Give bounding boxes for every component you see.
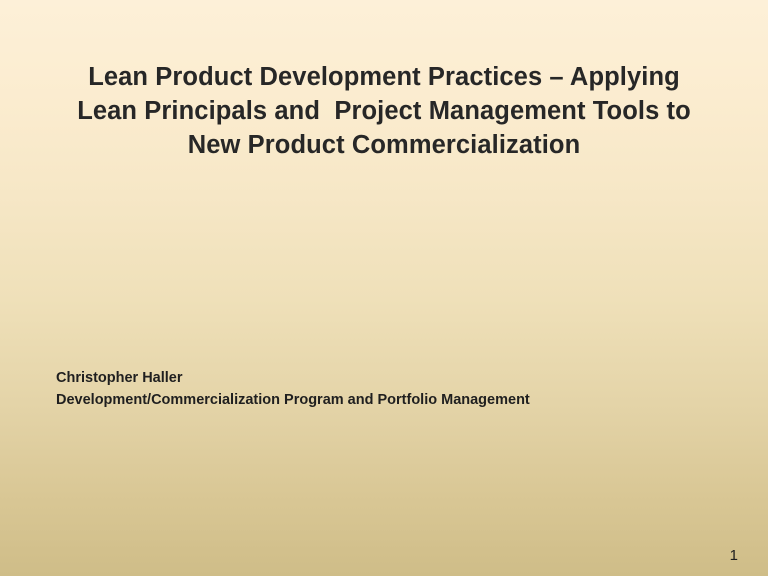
title-line-1: Lean Product Development Practices – App…	[56, 60, 712, 94]
author-name: Christopher Haller	[56, 368, 716, 390]
presentation-slide: Lean Product Development Practices – App…	[0, 0, 768, 576]
author-role: Development/Commercialization Program an…	[56, 390, 716, 412]
title-line-2: Lean Principals and Project Management T…	[56, 94, 712, 128]
slide-title: Lean Product Development Practices – App…	[56, 60, 712, 162]
title-line-3: New Product Commercialization	[56, 128, 712, 162]
page-number: 1	[730, 547, 738, 564]
author-info: Christopher Haller Development/Commercia…	[56, 368, 716, 412]
